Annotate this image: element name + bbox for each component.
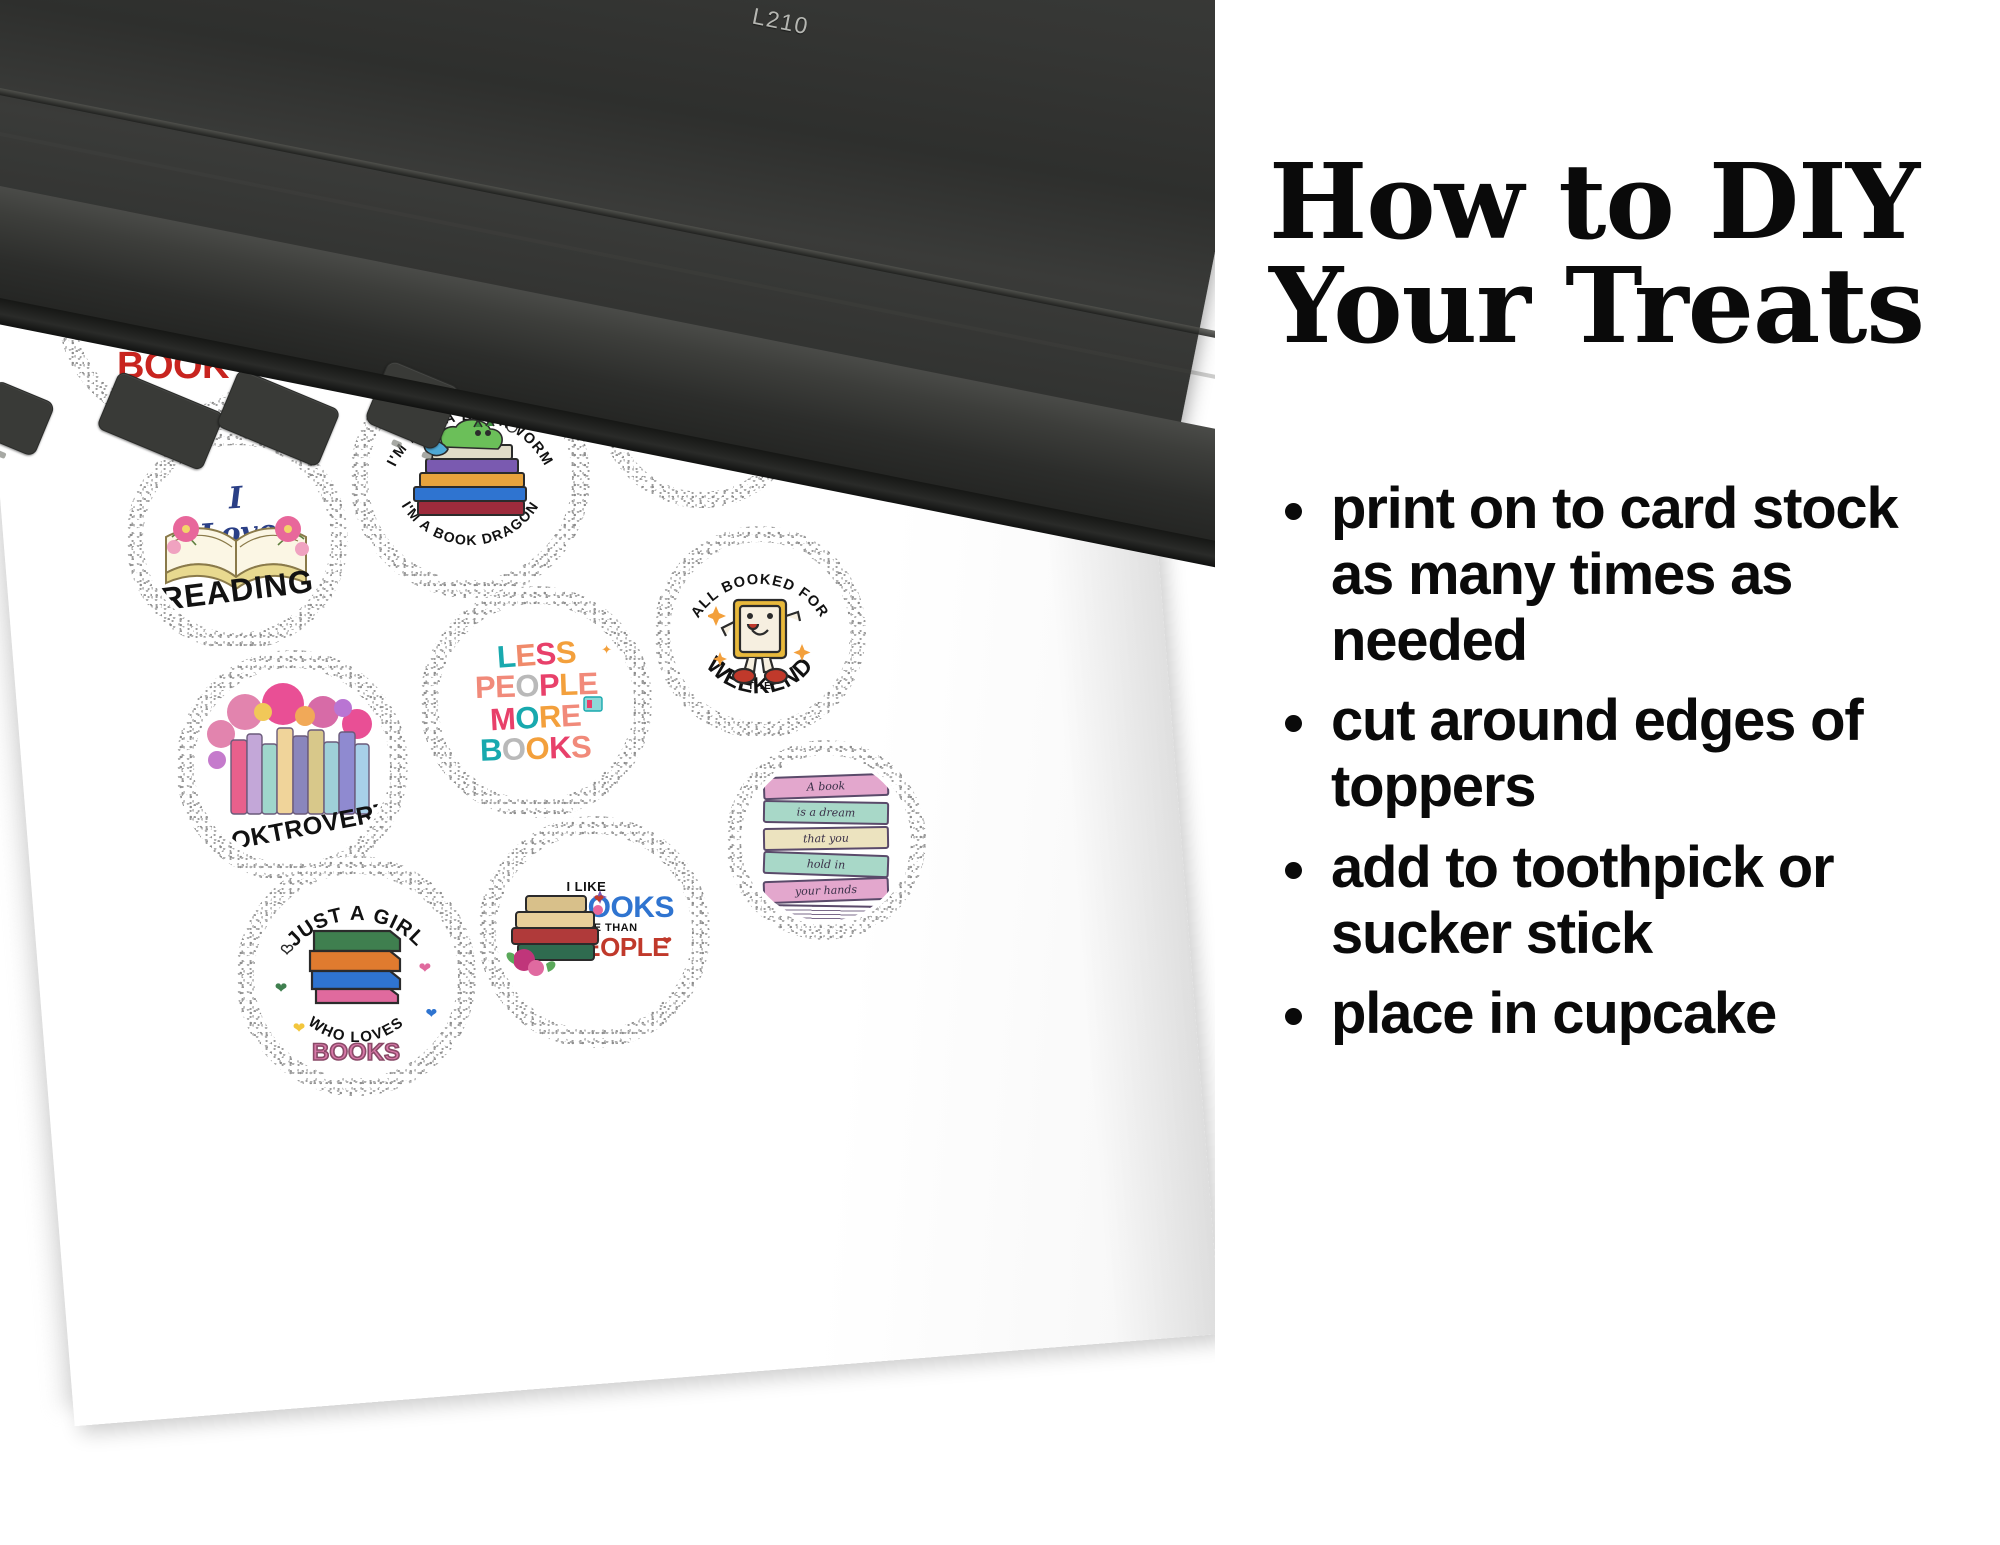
sparkle-icon: ✦ (601, 642, 612, 658)
page-title: How to DIY Your Treats (1269, 150, 1958, 358)
bubble-letter: O (514, 671, 539, 702)
bubble-letter: R (539, 701, 562, 732)
poster-canvas: Get LOST IN A Good BOOK ✿ ✿ ❄ BOOKS ARE … (0, 0, 2000, 1545)
spine-label: that you (763, 826, 889, 851)
steps-list: print on to card stock as many times as … (1275, 476, 1958, 1047)
bubble-letter: E (494, 672, 515, 703)
topper-booktrovert: BOOKTROVERT (176, 650, 408, 882)
bubble-letter: S (571, 732, 592, 763)
topper-i-like-books-more-than-people: I LIKE BOOKS MORE THAN PEOPLE (478, 816, 710, 1048)
small-book-icon (582, 694, 604, 714)
page-block (763, 904, 889, 921)
heart-icon: ❤ (275, 979, 288, 997)
bubble-word-books: B O O K S (480, 732, 592, 766)
heart-icon: ❤ (293, 1019, 306, 1037)
topper-face: A book is a dream that you hold in your … (745, 759, 907, 921)
bubble-letter: L (558, 670, 577, 701)
topper-face: I LIKE BOOKS MORE THAN PEOPLE (500, 838, 688, 1026)
step-item: cut around edges of toppers (1275, 688, 1958, 820)
heart-icon: ❤ (281, 941, 294, 959)
spine-label: is a dream (763, 800, 889, 825)
happy-book-character-art (708, 586, 812, 690)
heart-icon: ❤ (425, 1005, 437, 1022)
bubble-letter: O (525, 733, 550, 764)
topper-less-people-more-books: L E S S P E O P L E M O R E (420, 586, 652, 818)
bubble-letter: O (515, 702, 540, 734)
topper-a-book-is-a-dream: A book is a dream that you hold in your … (726, 740, 926, 940)
topper-face: JUST A GIRL WHO LOVES BOOKS (259, 879, 453, 1073)
topper-all-booked-for-the-weekend: ALL BOOKED FOR WEEKEND THE (654, 526, 866, 738)
book-stack-art: A book is a dream that you hold in your … (763, 775, 889, 921)
spine-label: your hands (763, 877, 890, 904)
topper-face: BOOKTROVERT (198, 672, 386, 860)
bubble-letter: K (549, 733, 572, 764)
bubble-letter: B (480, 735, 503, 766)
heart-icon: ❤ (419, 959, 432, 977)
title-line-1: How to DIY (1269, 150, 1958, 254)
printer-photo: Get LOST IN A Good BOOK ✿ ✿ ❄ BOOKS ARE … (0, 0, 1215, 1545)
bubble-letter: E (514, 640, 536, 672)
heart-icon: ❤ (594, 892, 604, 906)
bubble-letter: E (560, 700, 582, 731)
bubble-letter: O (502, 734, 527, 765)
stacked-books-flower-art (502, 874, 612, 984)
topper-face: ALL BOOKED FOR WEEKEND THE (674, 546, 846, 718)
topper-face: I Love (147, 449, 327, 629)
topper-just-a-girl-who-loves-books: JUST A GIRL WHO LOVES BOOKS (236, 856, 476, 1096)
heart-icon: ❤ (662, 934, 672, 948)
sparkle-icon: ✦ (456, 630, 468, 647)
step-item: add to toothpick or sucker stick (1275, 835, 1958, 967)
topper-face: L E S S P E O P L E M O R E (442, 608, 630, 796)
colorful-book-stack-art (296, 917, 416, 1009)
topper-line: BOOKS (312, 1039, 400, 1067)
spine-label: A book (763, 773, 890, 800)
title-line-2: Your Treats (1269, 254, 1958, 358)
bubble-letter: P (474, 673, 495, 704)
spine-label: hold in (763, 851, 890, 878)
bubble-letter: S (534, 638, 556, 670)
step-item: place in cupcake (1275, 981, 1958, 1047)
step-item: print on to card stock as many times as … (1275, 476, 1958, 674)
instructions-panel: How to DIY Your Treats print on to card … (1215, 0, 2000, 1545)
bubble-letter: S (554, 637, 576, 669)
bubble-letter: P (538, 670, 559, 701)
bubble-letter: M (490, 704, 517, 736)
